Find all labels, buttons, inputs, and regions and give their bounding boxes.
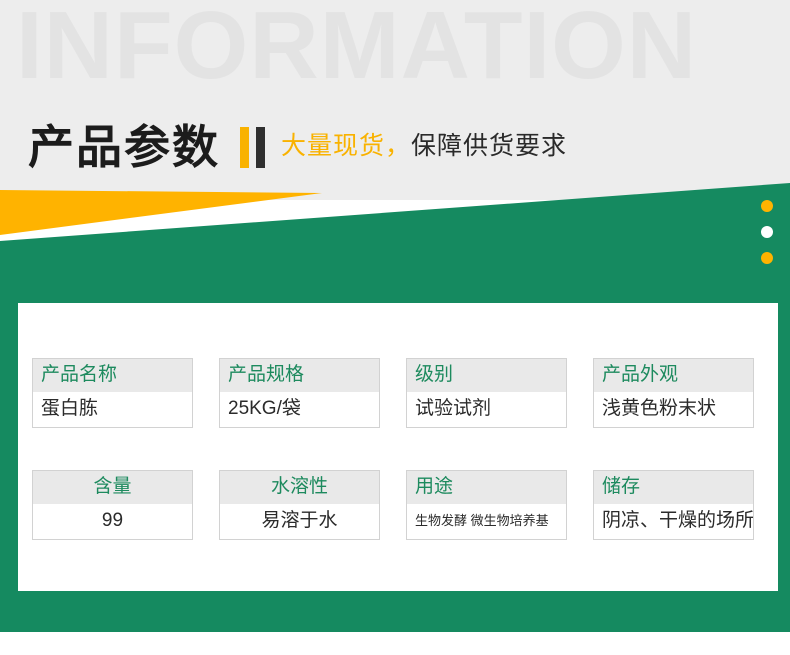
spec-cell-value: 99: [33, 504, 192, 539]
spec-cell-value: 易溶于水: [220, 504, 379, 539]
spec-cell-label: 含量: [33, 471, 192, 504]
spec-cell: 含量99: [32, 470, 193, 540]
spec-table: 产品名称蛋白胨产品规格25KG/袋级别试验试剂产品外观浅黄色粉末状含量99水溶性…: [32, 358, 764, 582]
dot-yellow-top-icon: [761, 200, 773, 212]
header-section: INFORMATION 产品参数 大量现货，保障供货要求: [0, 0, 790, 200]
spec-cell-label: 产品规格: [220, 359, 379, 392]
spec-cell: 产品规格25KG/袋: [219, 358, 380, 428]
dot-white-middle-icon: [761, 226, 773, 238]
subtitle-rest-text: 保障供货要求: [411, 132, 567, 160]
spec-cell-value: 阴凉、干燥的场所: [594, 504, 753, 539]
spec-cell-value: 试验试剂: [407, 392, 566, 427]
spec-cell: 级别试验试剂: [406, 358, 567, 428]
spec-cell-value: 蛋白胨: [33, 392, 192, 427]
spec-cell: 产品外观浅黄色粉末状: [593, 358, 754, 428]
spec-cell-value: 生物发酵 微生物培养基: [407, 504, 566, 539]
watermark-information-text: INFORMATION: [16, 0, 790, 100]
spec-cell: 水溶性易溶于水: [219, 470, 380, 540]
spec-cell-value: 浅黄色粉末状: [594, 392, 753, 427]
spec-cell-label: 水溶性: [220, 471, 379, 504]
dot-yellow-bottom-icon: [761, 252, 773, 264]
spec-cell-label: 产品外观: [594, 359, 753, 392]
spec-cell-label: 产品名称: [33, 359, 192, 392]
page-title: 产品参数: [28, 124, 220, 170]
divider-bar-dark-icon: [256, 127, 265, 168]
product-parameters-page: INFORMATION 产品参数 大量现货，保障供货要求 产品名称蛋白胨产品规格…: [0, 0, 790, 655]
title-divider-bars: [240, 127, 265, 168]
spec-cell: 用途生物发酵 微生物培养基: [406, 470, 567, 540]
spec-card: 产品名称蛋白胨产品规格25KG/袋级别试验试剂产品外观浅黄色粉末状含量99水溶性…: [18, 303, 778, 591]
spec-cell-value: 25KG/袋: [220, 392, 379, 427]
spec-cell: 产品名称蛋白胨: [32, 358, 193, 428]
spec-cell-label: 储存: [594, 471, 753, 504]
decorative-dots-group: [761, 200, 775, 278]
title-row: 产品参数 大量现货，保障供货要求: [28, 116, 567, 178]
spec-cell-label: 用途: [407, 471, 566, 504]
divider-bar-yellow-icon: [240, 127, 249, 168]
page-subtitle: 大量现货，保障供货要求: [281, 134, 567, 161]
subtitle-emphasis-text: 大量现货，: [281, 132, 411, 160]
spec-cell-label: 级别: [407, 359, 566, 392]
spec-cell: 储存阴凉、干燥的场所: [593, 470, 754, 540]
